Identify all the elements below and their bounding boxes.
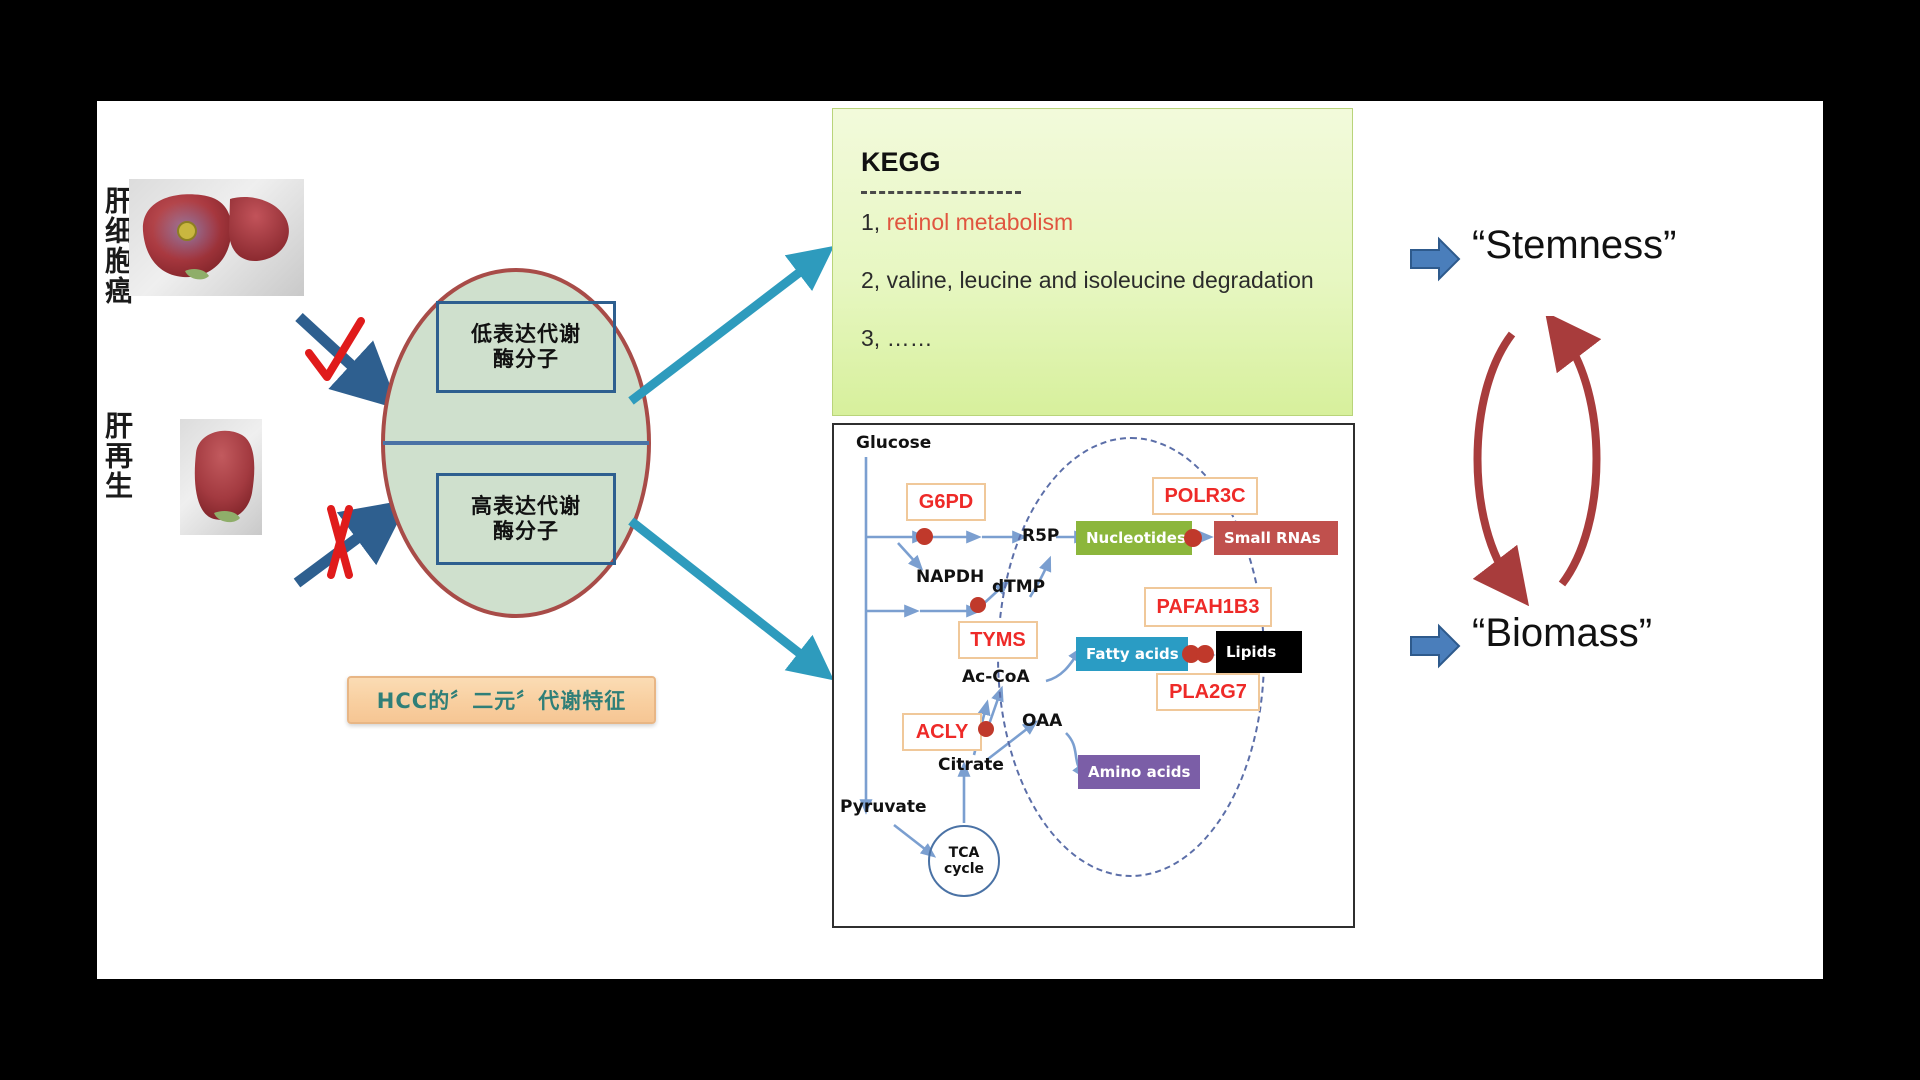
kegg-item-1-number: 1,: [861, 209, 880, 235]
low-expression-line2: 酶分子: [493, 347, 559, 371]
product-fatty-acids-label: Fatty acids: [1086, 645, 1179, 663]
kegg-item-1-text: retinol metabolism: [880, 209, 1073, 235]
enzyme-dot-polr3c: [1184, 529, 1202, 547]
output-stemness-label: “Stemness”: [1472, 223, 1677, 268]
gene-acly-label: ACLY: [916, 721, 969, 744]
kegg-item-2-number: 2,: [861, 267, 880, 293]
liver-regeneration-image: [180, 419, 262, 535]
label-liver-regeneration: 肝再生: [97, 411, 137, 501]
kegg-item-1: 1, retinol metabolism: [861, 209, 1073, 236]
gene-tyms-label: TYMS: [970, 629, 1026, 652]
gene-pla2g7-label: PLA2G7: [1169, 681, 1247, 704]
metabolite-oaa: OAA: [1022, 711, 1062, 731]
bidirectional-cycle-arrows: [1442, 316, 1652, 606]
kegg-item-2-text: valine, leucine and isoleucine degradati…: [880, 267, 1313, 293]
gene-pafah1b3-label: PAFAH1B3: [1157, 596, 1260, 619]
tca-cycle-node: TCA cycle: [928, 825, 1000, 897]
kegg-item-2: 2, valine, leucine and isoleucine degrad…: [861, 267, 1314, 294]
blocked-arrow-upper: [287, 301, 397, 411]
box-high-expression-enzymes[interactable]: 高表达代谢 酶分子: [436, 473, 616, 565]
metabolite-pyruvate: Pyruvate: [840, 797, 927, 817]
kegg-title: KEGG: [861, 147, 941, 178]
gene-tyms[interactable]: TYMS: [958, 621, 1038, 659]
gene-polr3c-label: POLR3C: [1164, 485, 1245, 508]
product-lipids-label: Lipids: [1226, 643, 1276, 661]
block-arrow-stemness: [1409, 236, 1461, 282]
ellipse-divider: [383, 441, 649, 445]
blocked-arrow-lower: [287, 491, 407, 601]
gene-pla2g7[interactable]: PLA2G7: [1156, 673, 1260, 711]
cycle-arrow-up: [1562, 334, 1597, 584]
metabolite-glucose: Glucose: [856, 433, 931, 453]
metabolite-dtmp: dTMP: [992, 577, 1045, 597]
enzyme-dot-acly: [978, 721, 994, 737]
block-arrow-biomass: [1409, 623, 1461, 669]
gene-g6pd-label: G6PD: [919, 491, 973, 514]
output-biomass-label: “Biomass”: [1472, 611, 1652, 656]
kegg-panel: KEGG 1, retinol metabolism 2, valine, le…: [832, 108, 1353, 416]
tca-label-line2: cycle: [944, 861, 984, 877]
kegg-divider: [861, 191, 1021, 194]
kegg-item-3-text: ……: [880, 325, 932, 351]
box-low-expression-enzymes[interactable]: 低表达代谢 酶分子: [436, 301, 616, 393]
enzyme-dot-g6pd: [916, 528, 933, 545]
high-expression-line1: 高表达代谢: [471, 494, 581, 518]
hcc-dual-metabolism-caption: HCC的〞二元〞代谢特征: [347, 676, 656, 724]
metabolic-pathway-panel: Glucose R5P NAPDH dTMP Ac-CoA OAA Citrat…: [832, 423, 1355, 928]
product-lipids[interactable]: Lipids: [1216, 631, 1302, 673]
enzyme-dot-tyms: [970, 597, 986, 613]
slide-canvas: 肝细胞癌 肝再生: [97, 101, 1823, 979]
cycle-arrow-down: [1478, 334, 1513, 584]
metabolite-r5p: R5P: [1022, 526, 1059, 546]
enzyme-dot-pla2g7: [1196, 645, 1214, 663]
tca-label-line1: TCA: [949, 845, 980, 861]
liver-lobe-icon: [180, 419, 262, 535]
liver-tumor-icon: [129, 179, 304, 296]
metabolite-citrate: Citrate: [938, 755, 1004, 775]
cyan-arrow-to-pathway: [617, 501, 847, 691]
slide-stage: 肝细胞癌 肝再生: [0, 0, 1920, 1080]
liver-tumor-image: [129, 179, 304, 296]
metabolite-napdh: NAPDH: [916, 567, 984, 587]
product-small-rnas[interactable]: Small RNAs: [1214, 521, 1338, 555]
product-fatty-acids[interactable]: Fatty acids: [1076, 637, 1188, 671]
product-amino-acids-label: Amino acids: [1088, 763, 1190, 781]
product-small-rnas-label: Small RNAs: [1224, 529, 1321, 547]
product-amino-acids[interactable]: Amino acids: [1078, 755, 1200, 789]
gene-acly[interactable]: ACLY: [902, 713, 982, 751]
low-expression-line1: 低表达代谢: [471, 322, 581, 346]
gene-polr3c[interactable]: POLR3C: [1152, 477, 1258, 515]
gene-pafah1b3[interactable]: PAFAH1B3: [1144, 587, 1272, 627]
product-nucleotides[interactable]: Nucleotides: [1076, 521, 1192, 555]
high-expression-line2: 酶分子: [493, 519, 559, 543]
product-nucleotides-label: Nucleotides: [1086, 529, 1186, 547]
kegg-item-3-number: 3,: [861, 325, 880, 351]
kegg-item-3: 3, ……: [861, 325, 933, 352]
metabolite-ac-coa: Ac-CoA: [962, 667, 1030, 687]
cyan-arrow-to-kegg: [617, 241, 847, 421]
gene-g6pd[interactable]: G6PD: [906, 483, 986, 521]
hcc-caption-text: HCC的〞二元〞代谢特征: [377, 685, 626, 715]
